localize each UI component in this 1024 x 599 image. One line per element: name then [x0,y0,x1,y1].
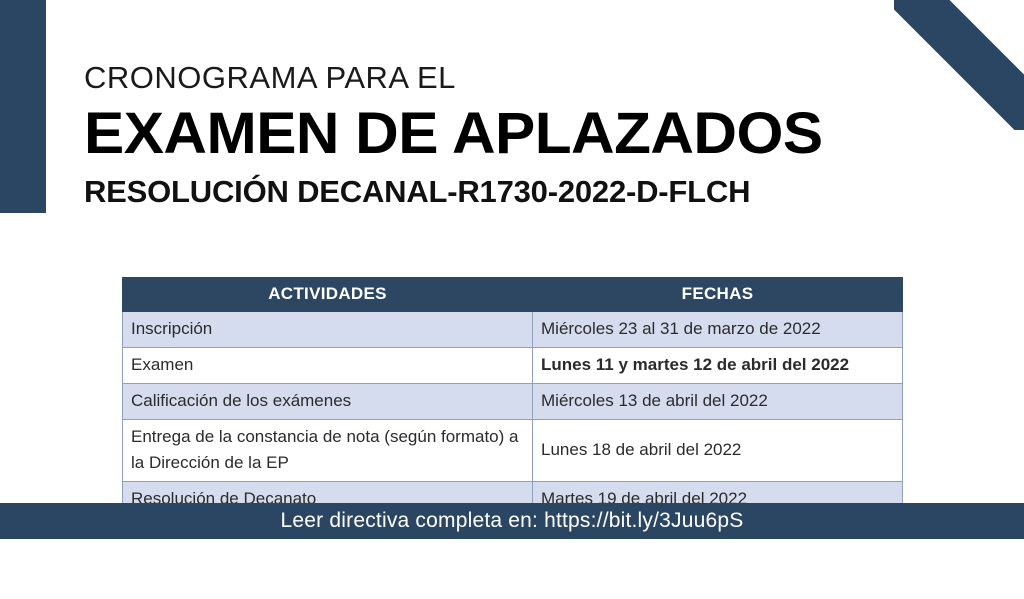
cell-date: Miércoles 13 de abril del 2022 [533,384,903,420]
column-header-activities: ACTIVIDADES [123,278,533,312]
page-title: EXAMEN DE APLAZADOS [84,102,999,166]
left-accent-bar [0,0,46,213]
table-header-row: ACTIVIDADES FECHAS [123,278,903,312]
table-row: Calificación de los exámenes Miércoles 1… [123,384,903,420]
cell-date-highlighted: Lunes 11 y martes 12 de abril del 2022 [533,348,903,384]
cell-activity: Examen [123,348,533,384]
cell-activity: Calificación de los exámenes [123,384,533,420]
schedule-table: ACTIVIDADES FECHAS Inscripción Miércoles… [122,277,903,518]
cell-date: Miércoles 23 al 31 de marzo de 2022 [533,312,903,348]
table-row: Entrega de la constancia de nota (según … [123,420,903,482]
schedule-table-container: ACTIVIDADES FECHAS Inscripción Miércoles… [122,277,902,518]
resolution-subtitle: RESOLUCIÓN DECANAL-R1730-2022-D-FLCH [84,172,964,212]
footer-band: Leer directiva completa en: https://bit.… [0,503,1024,539]
table-row: Examen Lunes 11 y martes 12 de abril del… [123,348,903,384]
table-row: Inscripción Miércoles 23 al 31 de marzo … [123,312,903,348]
column-header-dates: FECHAS [533,278,903,312]
footer-link-text[interactable]: Leer directiva completa en: https://bit.… [281,509,744,533]
kicker-text: CRONOGRAMA PARA EL [84,58,964,98]
cell-date: Lunes 18 de abril del 2022 [533,420,903,482]
header-block: CRONOGRAMA PARA EL EXAMEN DE APLAZADOS R… [84,58,964,212]
cell-activity: Inscripción [123,312,533,348]
schedule-table-body: Inscripción Miércoles 23 al 31 de marzo … [123,312,903,518]
slide-canvas: CRONOGRAMA PARA EL EXAMEN DE APLAZADOS R… [0,0,1024,599]
cell-activity: Entrega de la constancia de nota (según … [123,420,533,482]
